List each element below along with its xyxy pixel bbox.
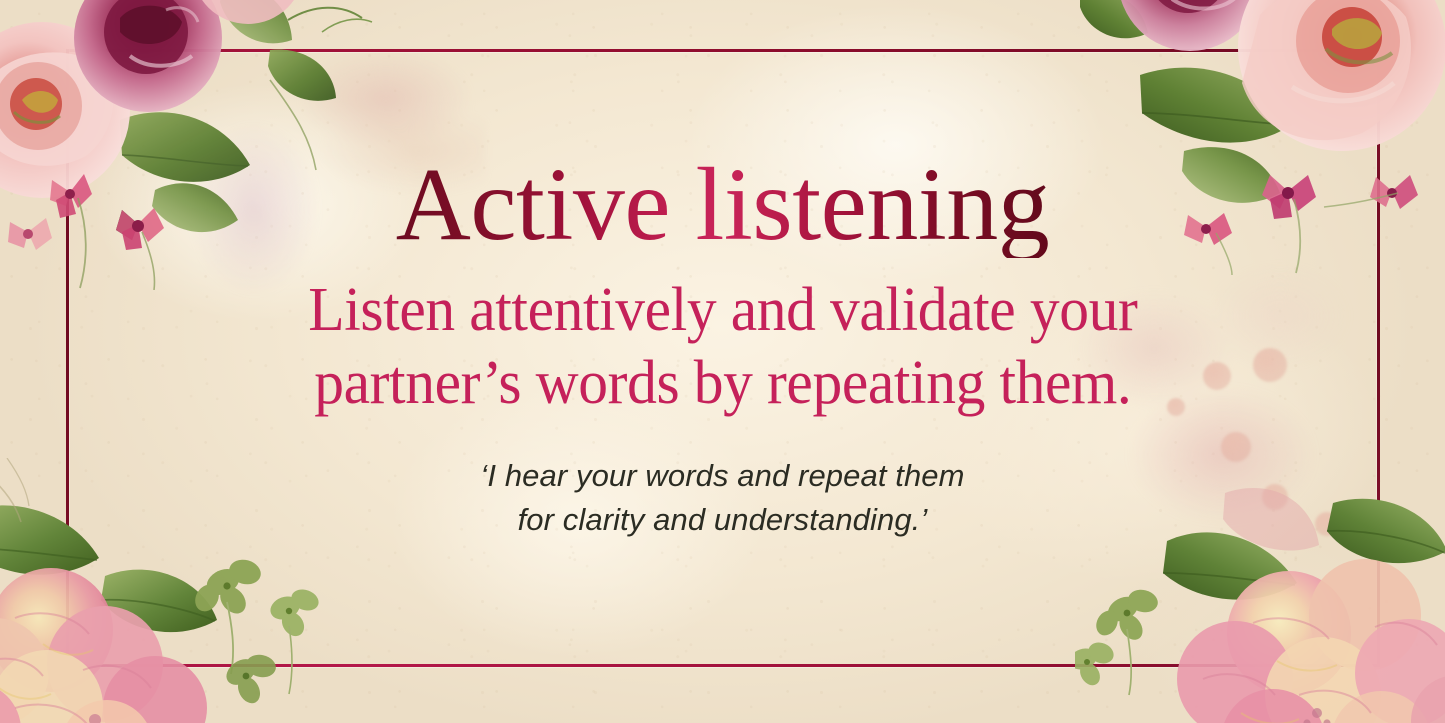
bokeh-dot	[1253, 348, 1287, 382]
body-line: partner’s words by repeating them.	[308, 347, 1137, 420]
floral-corner-top-left	[0, 0, 390, 290]
quote-line: ‘I hear your words and repeat them	[480, 454, 964, 498]
floral-quote-card: Active listening Listen attentively and …	[0, 0, 1445, 723]
bokeh-dot	[1315, 512, 1339, 536]
frame-border-top	[68, 49, 1380, 52]
card-content: Active listening Listen attentively and …	[0, 0, 1445, 723]
bokeh-dot	[1221, 432, 1251, 462]
bokeh-dot	[1203, 362, 1231, 390]
quote-line: for clarity and understanding.’	[480, 498, 964, 542]
body-line: Listen attentively and validate your	[308, 274, 1137, 347]
floral-corner-bottom-left	[0, 458, 355, 723]
page-title: Active listening	[396, 152, 1049, 258]
frame-border-right	[1377, 49, 1380, 667]
floral-corner-top-right	[1080, 0, 1445, 275]
frame-border-bottom	[68, 664, 1380, 667]
frame-border-left	[66, 49, 69, 667]
affirmation-quote: ‘I hear your words and repeat them for c…	[480, 454, 964, 542]
bokeh-dot	[1262, 484, 1288, 510]
bokeh-dot	[1167, 398, 1185, 416]
body-paragraph: Listen attentively and validate your par…	[308, 274, 1137, 420]
floral-corner-bottom-right	[1075, 483, 1445, 723]
